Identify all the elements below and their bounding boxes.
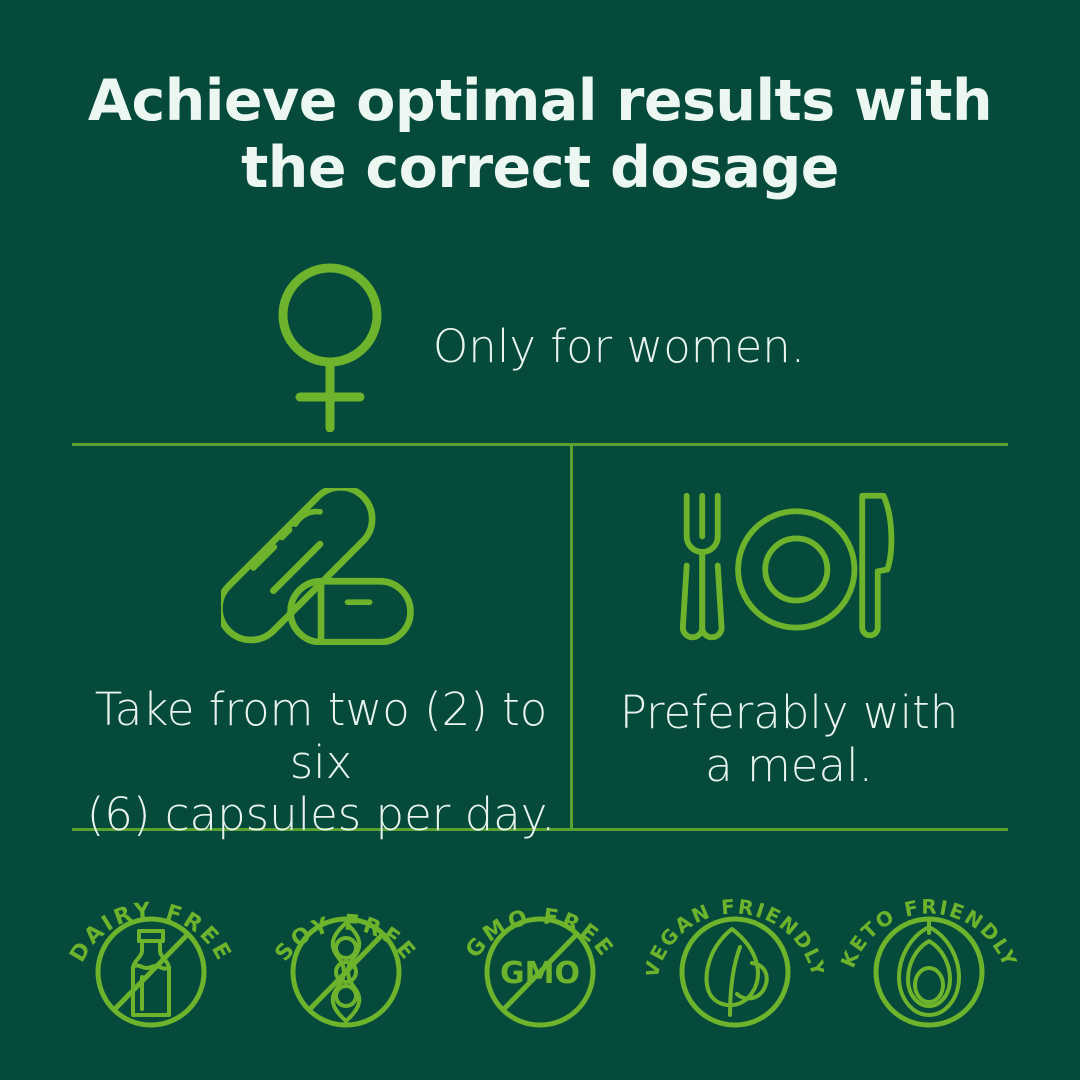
badge-gmo-free: GMO FREE GMO bbox=[451, 875, 629, 1035]
row-only-for-women: Only for women. bbox=[72, 252, 1008, 442]
cell-dosage: Take from two (2) to six (6) capsules pe… bbox=[72, 446, 570, 829]
badge-dairy-free: DAIRY FREE bbox=[62, 875, 240, 1035]
dosage-label-line-2: (6) capsules per day. bbox=[87, 788, 556, 841]
badge-soy-free: SOY FREE bbox=[257, 875, 435, 1035]
badge-gmo-free-inner-text: GMO bbox=[500, 956, 580, 991]
badge-vegan-friendly: VEGAN FRIENDLY bbox=[646, 875, 824, 1035]
certification-badges-row: DAIRY FREE SOY FREE bbox=[62, 872, 1018, 1038]
meal-label-line-2: a meal. bbox=[705, 739, 873, 792]
dosage-label: Take from two (2) to six (6) capsules pe… bbox=[72, 684, 570, 842]
svg-text:GMO FREE: GMO FREE bbox=[461, 904, 619, 963]
dosage-infographic-card: Achieve optimal results with the correct… bbox=[0, 0, 1080, 1080]
capsules-icon bbox=[221, 488, 421, 650]
meal-label: Preferably with a meal. bbox=[620, 687, 959, 792]
page-title: Achieve optimal results with the correct… bbox=[70, 68, 1010, 203]
badge-gmo-free-label: GMO FREE bbox=[461, 904, 619, 963]
meal-label-line-1: Preferably with bbox=[620, 686, 959, 739]
page-title-line-1: Achieve optimal results with bbox=[70, 68, 1010, 135]
dosage-label-line-1: Take from two (2) to six bbox=[95, 683, 548, 789]
page-title-line-2: the correct dosage bbox=[70, 135, 1010, 202]
venus-female-symbol-icon bbox=[275, 262, 385, 432]
only-for-women-label: Only for women. bbox=[433, 320, 805, 374]
badge-keto-friendly: KETO FRIENDLY bbox=[840, 875, 1018, 1035]
row-dosage-and-meal: Take from two (2) to six (6) capsules pe… bbox=[72, 446, 1008, 829]
cell-meal: Preferably with a meal. bbox=[570, 446, 1008, 829]
fork-plate-knife-icon bbox=[675, 488, 903, 653]
